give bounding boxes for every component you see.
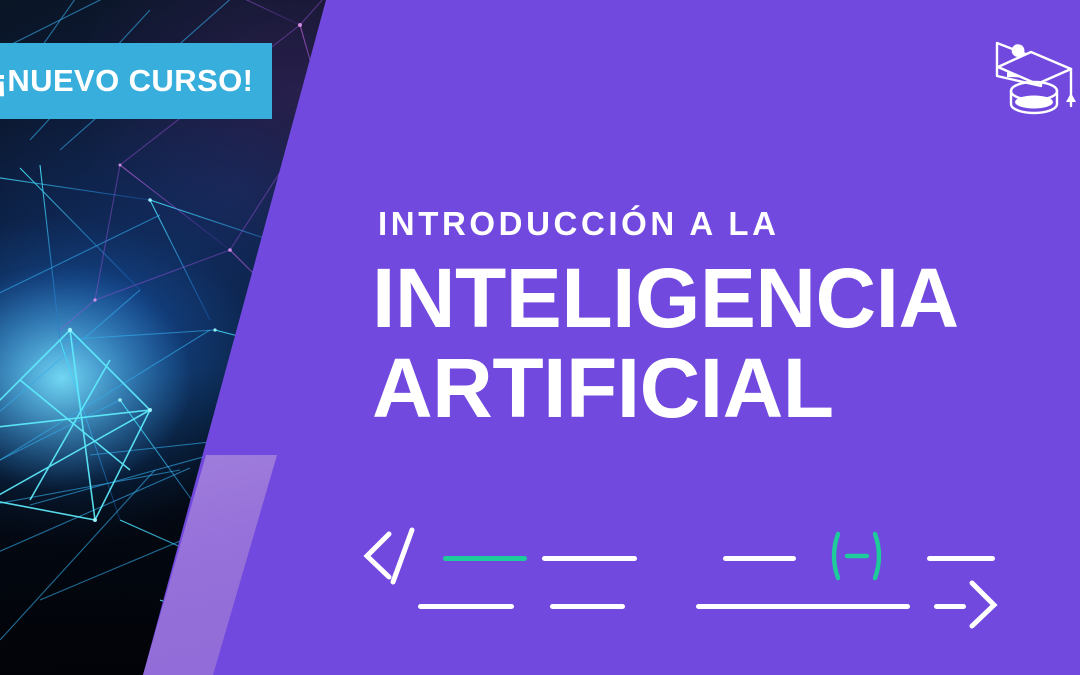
- banner-kicker: INTRODUCCIÓN A LA: [378, 205, 780, 243]
- new-course-badge: ¡NUEVO CURSO!: [0, 43, 272, 119]
- banner-title-line-2: ARTIFICIAL: [372, 346, 834, 430]
- graduation-cap-play-icon: [985, 24, 1077, 124]
- dash-white-1: [542, 556, 637, 561]
- code-brackets-decoration: [360, 520, 1010, 630]
- dash-white-7: [934, 604, 966, 609]
- code-slash-icon: [393, 530, 412, 582]
- code-paren-open-icon: [834, 534, 838, 578]
- code-dash-group: [418, 556, 995, 609]
- banner-title-line-1: INTELIGENCIA: [372, 256, 959, 340]
- dash-white-5: [550, 604, 625, 609]
- code-open-bracket-icon: [367, 534, 389, 577]
- dash-white-4: [418, 604, 514, 609]
- course-banner: ¡NUEVO CURSO! INTRODUCCIÓN A LA INTELIGE…: [0, 0, 1080, 675]
- dash-white-2: [723, 556, 796, 561]
- code-paren-close-icon: [875, 534, 879, 578]
- new-course-badge-label: ¡NUEVO CURSO!: [0, 63, 253, 99]
- dash-white-3: [927, 556, 995, 561]
- code-close-chevron-icon: [972, 583, 994, 626]
- dash-white-6: [696, 604, 910, 609]
- dash-teal-1: [443, 556, 527, 561]
